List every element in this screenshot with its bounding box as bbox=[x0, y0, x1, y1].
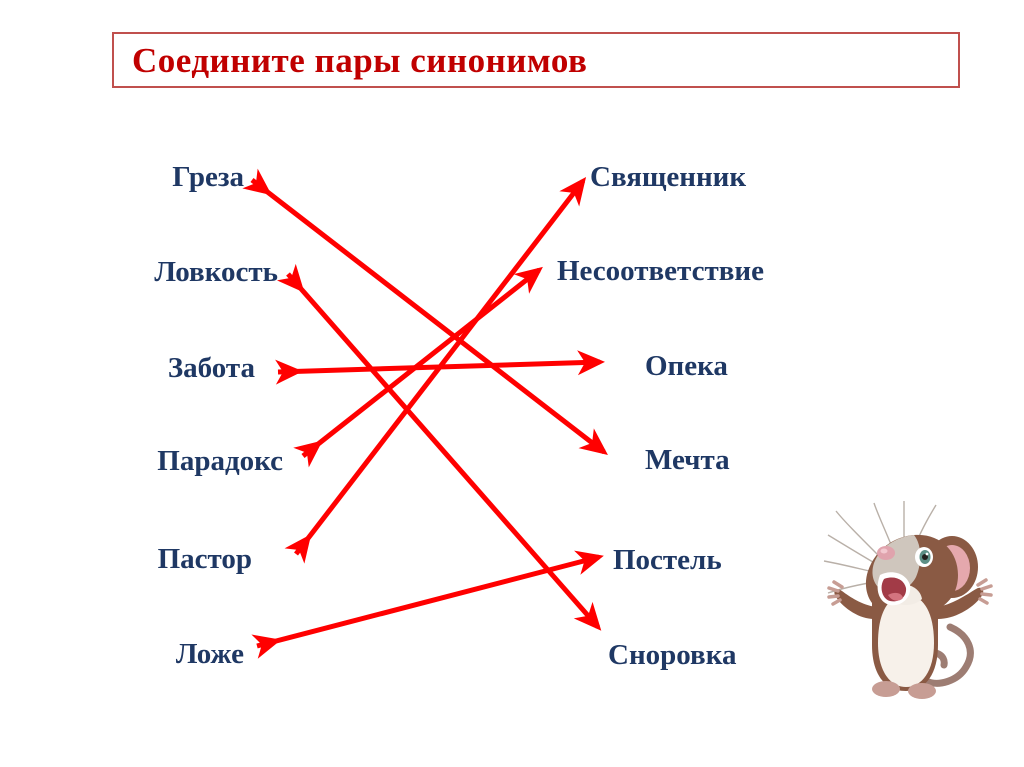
left-word-lozhe-label: Ложе bbox=[176, 638, 244, 670]
right-word-postel[interactable]: Постель bbox=[613, 546, 722, 575]
right-word-mechta-label: Мечта bbox=[645, 444, 730, 476]
left-word-greza-label: Греза bbox=[172, 161, 244, 193]
left-word-paradoks[interactable]: Парадокс bbox=[0, 447, 283, 476]
right-word-snorovka[interactable]: Сноровка bbox=[608, 641, 737, 670]
left-word-greza[interactable]: Греза bbox=[0, 163, 244, 192]
arrow-lovkost-snorovka bbox=[288, 274, 598, 627]
cartoon-mouse-icon bbox=[818, 495, 1018, 710]
arrow-paradoks-nesootvetstvie bbox=[303, 270, 539, 456]
right-word-snorovka-label: Сноровка bbox=[608, 639, 737, 671]
right-word-svyashchennik[interactable]: Священник bbox=[590, 163, 746, 192]
arrow-lozhe-postel bbox=[257, 557, 599, 646]
left-word-pastor[interactable]: Пастор bbox=[0, 545, 252, 574]
arrow-greza-mechta bbox=[252, 180, 604, 452]
right-word-postel-label: Постель bbox=[613, 544, 722, 576]
left-word-lovkost-label: Ловкость bbox=[154, 256, 278, 288]
arrow-pastor-svyashchennik bbox=[296, 181, 583, 554]
left-word-zabota[interactable]: Забота bbox=[0, 354, 255, 383]
right-word-opeka-label: Опека bbox=[645, 350, 728, 382]
right-word-opeka[interactable]: Опека bbox=[645, 352, 728, 381]
left-word-lovkost[interactable]: Ловкость bbox=[0, 258, 278, 287]
right-word-mechta[interactable]: Мечта bbox=[645, 446, 730, 475]
left-word-lozhe[interactable]: Ложе bbox=[0, 640, 244, 669]
slide-canvas: Соедините пары синонимов Греза Ловкость … bbox=[0, 0, 1024, 767]
right-word-nesootvetstvie-label: Несоответствие bbox=[557, 255, 764, 287]
right-word-svyashchennik-label: Священник bbox=[590, 161, 746, 193]
right-word-nesootvetstvie[interactable]: Несоответствие bbox=[557, 257, 764, 286]
left-word-paradoks-label: Парадокс bbox=[157, 445, 283, 477]
page-title: Соедините пары синонимов bbox=[132, 40, 952, 82]
arrow-zabota-opeka bbox=[278, 362, 600, 372]
left-word-pastor-label: Пастор bbox=[158, 543, 252, 575]
left-word-zabota-label: Забота bbox=[168, 352, 255, 384]
